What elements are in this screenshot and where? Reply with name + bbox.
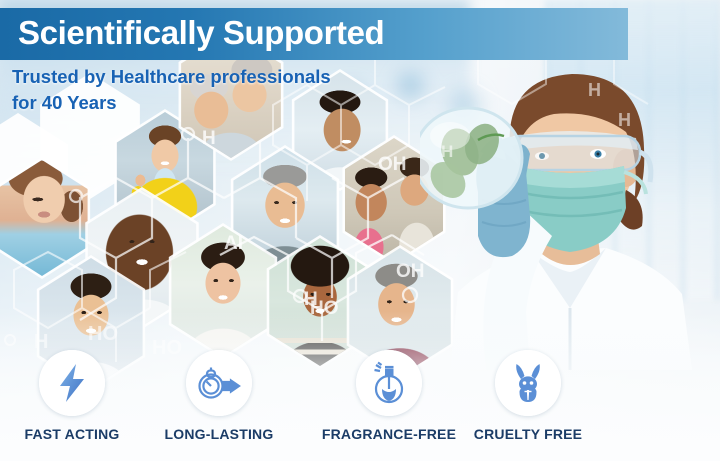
subtitle: Trusted by Healthcare professionals for …	[12, 64, 442, 116]
feature-icon-circle	[356, 350, 422, 416]
stopwatch-arrow-icon	[197, 365, 241, 401]
feature-icon-circle	[495, 350, 561, 416]
feature-label: FRAGRANCE-FREE	[314, 426, 464, 442]
feature-icon-circle	[186, 350, 252, 416]
headline-bar: Scientifically Supported	[0, 8, 628, 60]
rabbit-icon	[508, 362, 548, 404]
feature-label: CRUELTY FREE	[453, 426, 603, 442]
feature-fragrance-free[interactable]: FRAGRANCE-FREE	[314, 350, 464, 442]
feature-cruelty-free[interactable]: CRUELTY FREE	[453, 350, 603, 442]
subtitle-line-2: for 40 Years	[12, 90, 442, 116]
perfume-bottle-icon	[368, 361, 410, 405]
feature-label: FAST ACTING	[0, 426, 147, 442]
feature-long-lasting[interactable]: LONG-LASTING	[144, 350, 294, 442]
feature-label: LONG-LASTING	[144, 426, 294, 442]
feature-fast-acting[interactable]: FAST ACTING	[0, 350, 147, 442]
lightning-bolt-icon	[52, 362, 92, 404]
page-title: Scientifically Supported	[18, 14, 384, 52]
marketing-banner: H OH HO H H	[0, 0, 720, 461]
feature-badge-row: FAST ACTING LONG-LASTING	[0, 350, 720, 461]
hexagon-collage	[0, 95, 470, 345]
feature-icon-circle	[39, 350, 105, 416]
subtitle-line-1: Trusted by Healthcare professionals	[12, 64, 442, 90]
